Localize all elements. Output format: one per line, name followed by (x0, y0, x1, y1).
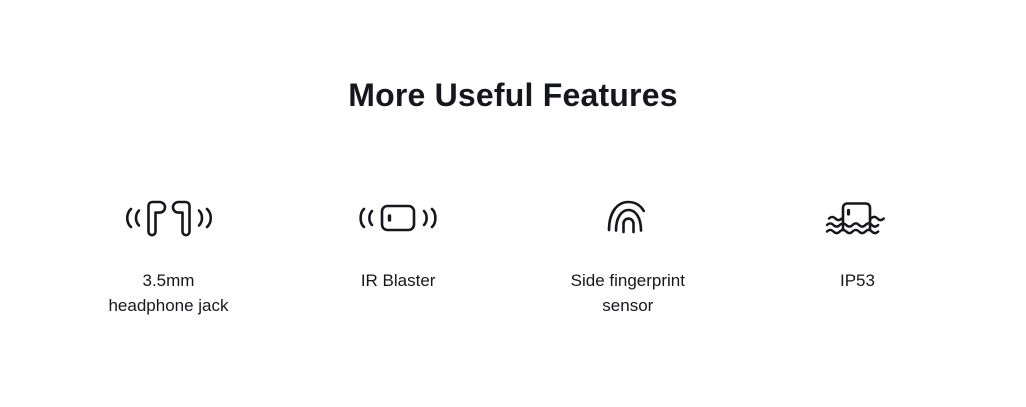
feature-label-line-1: 3.5mm (108, 268, 228, 293)
feature-item-headphone-jack: 3.5mm headphone jack (63, 190, 274, 318)
features-row: 3.5mm headphone jack (63, 190, 963, 318)
page-title: More Useful Features (0, 73, 1026, 117)
earbuds-with-sound-waves-icon (119, 190, 219, 246)
feature-label-ir-blaster: IR Blaster (361, 268, 436, 293)
feature-item-fingerprint-sensor: Side fingerprint sensor (522, 190, 733, 318)
feature-label-line-2: headphone jack (108, 293, 228, 318)
feature-label-line-2: sensor (571, 293, 685, 318)
feature-item-ip53: IP53 (752, 190, 963, 293)
ir-blaster-remote-with-sound-waves-icon (352, 190, 444, 246)
more-useful-features-section: More Useful Features 3.5mm (0, 0, 1026, 407)
feature-label-fingerprint-sensor: Side fingerprint sensor (571, 268, 685, 318)
feature-label-line-1: IR Blaster (361, 268, 436, 293)
feature-label-line-1: Side fingerprint (571, 268, 685, 293)
feature-label-headphone-jack: 3.5mm headphone jack (108, 268, 228, 318)
phone-in-water-icon (821, 190, 893, 246)
feature-item-ir-blaster: IR Blaster (293, 190, 504, 293)
fingerprint-icon (605, 190, 651, 246)
feature-label-line-1: IP53 (840, 268, 875, 293)
feature-label-ip53: IP53 (840, 268, 875, 293)
